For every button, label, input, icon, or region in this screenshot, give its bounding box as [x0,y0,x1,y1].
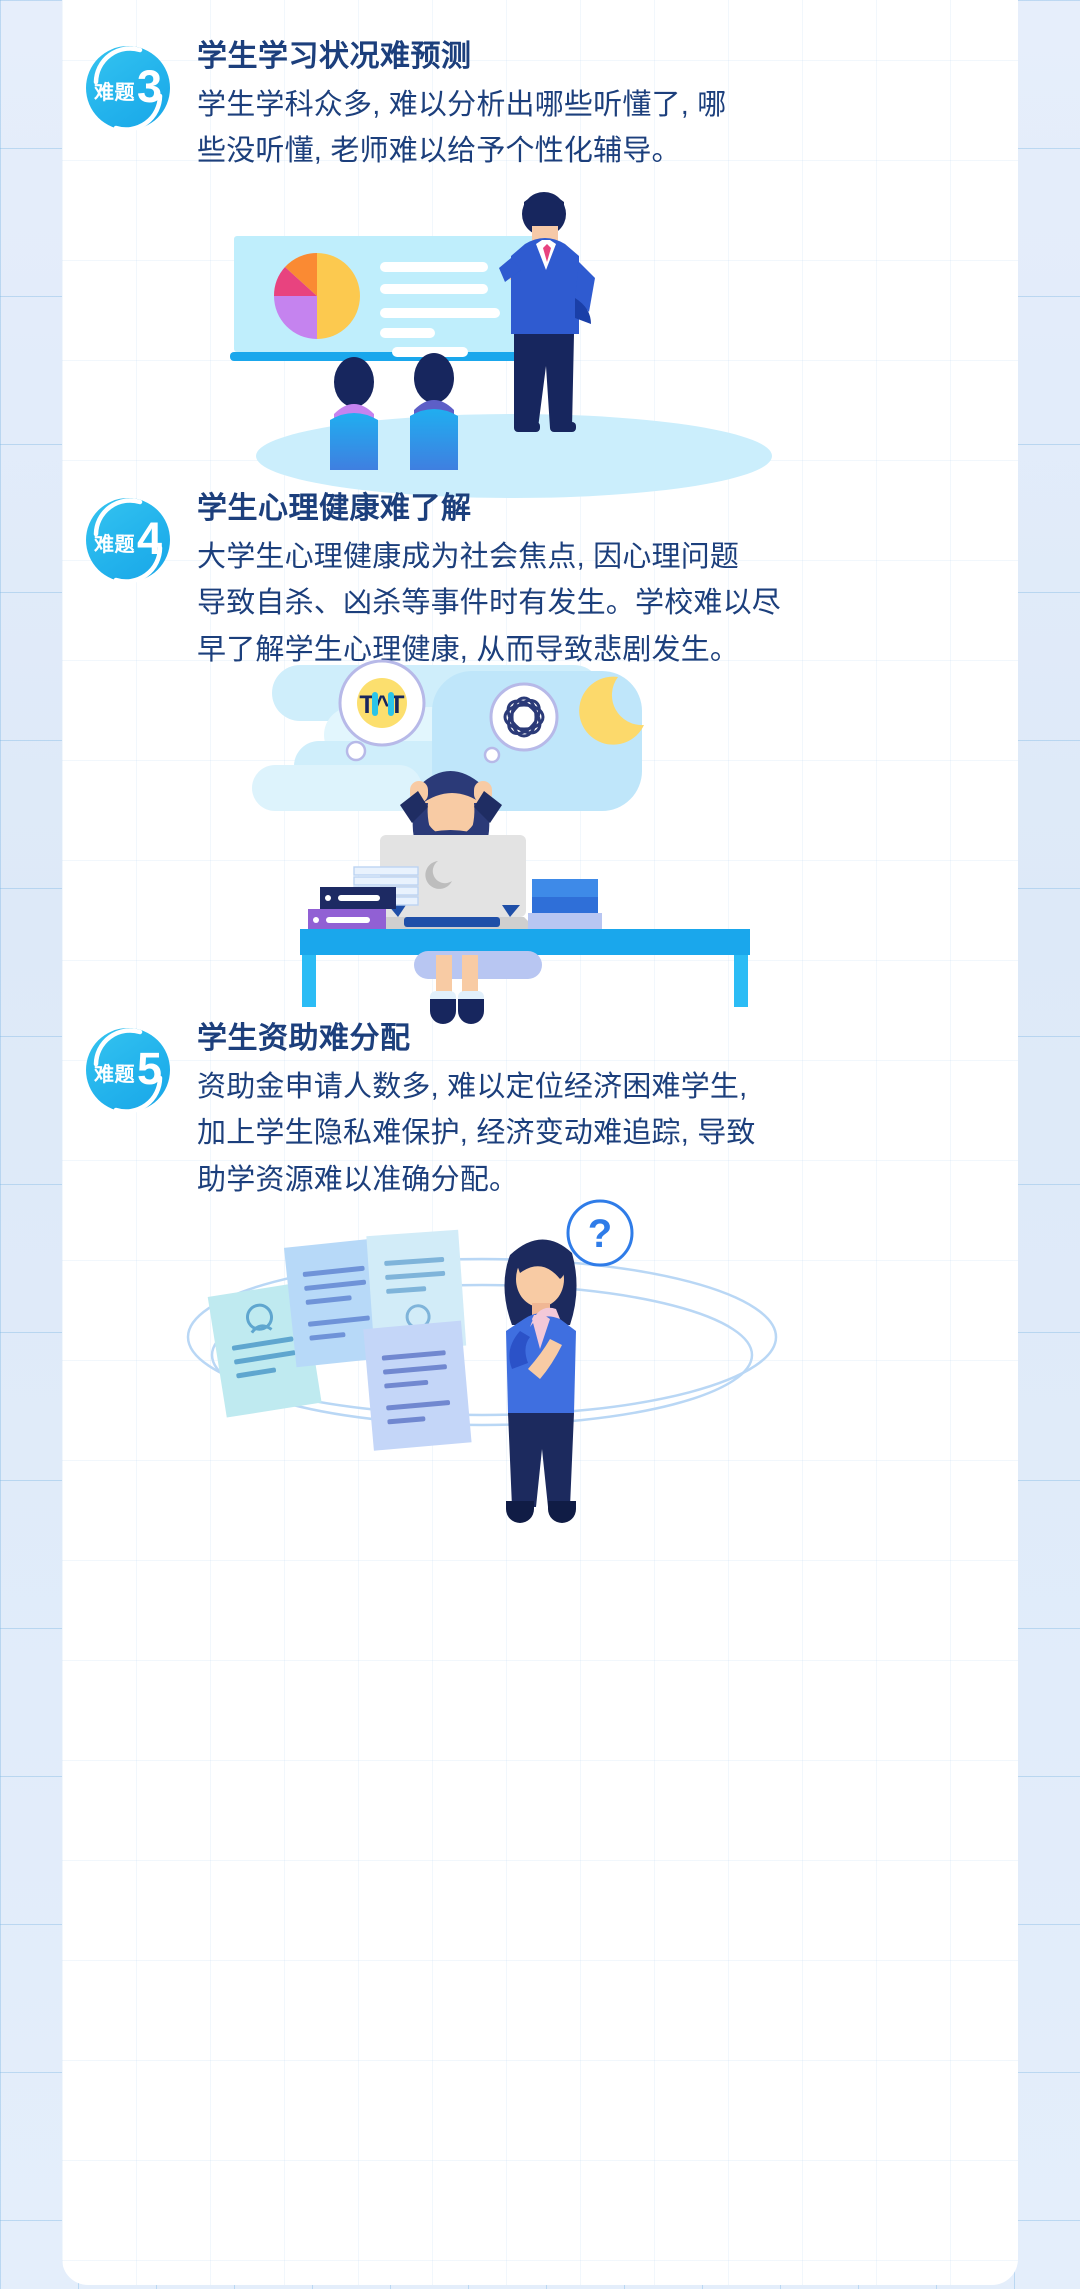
body-line: 大学生心理健康成为社会焦点, 因心理问题 [197,534,988,581]
teacher-chart-svg [62,158,1018,488]
section-problem-4: 难题 4 学生心理健康难了解 大学生心理健康成为社会焦点, 因心理问题 导致自杀… [62,490,1018,674]
book-stack-right [528,879,602,931]
body-line: 加上学生隐私难保护, 经济变动难追踪, 导致 [197,1110,988,1157]
body-line: 学生学科众多, 难以分析出哪些听懂了, 哪 [197,82,988,129]
badge-text: 难题 5 [86,1028,170,1112]
screen-base [230,352,544,361]
standing-woman [504,1239,576,1523]
section-4-body: 大学生心理健康成为社会焦点, 因心理问题 导致自杀、凶杀等事件时有发生。学校难以… [197,534,988,675]
legs [508,1413,574,1507]
section-3-header: 难题 3 学生学习状况难预测 学生学科众多, 难以分析出哪些听懂了, 哪 些没听… [62,38,1018,175]
standing-presenter [499,192,595,432]
badge-label: 难题 [94,83,135,103]
section-5-body: 资助金申请人数多, 难以定位经济困难学生, 加上学生隐私难保护, 经济变动难追踪… [197,1064,988,1205]
section-4-header: 难题 4 学生心理健康难了解 大学生心理健康成为社会焦点, 因心理问题 导致自杀… [62,490,1018,674]
pie-chart [274,253,360,339]
illustration-teacher-presenting-chart [62,158,1018,488]
woman-documents-svg: ? [62,1185,1018,1515]
badge-number: 5 [137,1046,162,1091]
badge-label: 难题 [94,535,135,555]
section-3-title: 学生学习状况难预测 [197,38,988,76]
book-stack-left [308,887,396,931]
body-line: 导致自杀、凶杀等事件时有发生。学校难以尽 [197,580,988,627]
badge-problem-4: 难题 4 [78,490,178,590]
section-3-text: 学生学习状况难预测 学生学科众多, 难以分析出哪些听懂了, 哪 些没听懂, 老师… [197,38,1018,175]
badge-label: 难题 [94,1065,135,1085]
crying-face-text: T^T [359,691,404,719]
seated-student-left [330,357,378,470]
illustration-stressed-student: T^T [62,655,1018,995]
section-5-text: 学生资助难分配 资助金申请人数多, 难以定位经济困难学生, 加上学生隐私难保护,… [197,1020,1018,1204]
seated-student-right [410,353,458,470]
section-5-title: 学生资助难分配 [197,1020,988,1058]
section-5-header: 难题 5 学生资助难分配 资助金申请人数多, 难以定位经济困难学生, 加上学生隐… [62,1020,1018,1204]
badge-problem-3: 难题 3 [78,38,178,138]
document-card-4 [363,1321,471,1451]
section-problem-3: 难题 3 学生学习状况难预测 学生学科众多, 难以分析出哪些听懂了, 哪 些没听… [62,38,1018,175]
badge-problem-5: 难题 5 [78,1020,178,1120]
stressed-student-svg: T^T [62,655,1018,995]
question-mark-text: ? [588,1212,612,1256]
section-problem-5: 难题 5 学生资助难分配 资助金申请人数多, 难以定位经济困难学生, 加上学生隐… [62,1020,1018,1204]
content-card: 难题 3 学生学习状况难预测 学生学科众多, 难以分析出哪些听懂了, 哪 些没听… [62,0,1018,2285]
desk [300,929,750,1007]
illustration-woman-documents: ? [62,1185,1018,1515]
badge-number: 3 [137,64,162,109]
badge-text: 难题 4 [86,498,170,582]
section-4-title: 学生心理健康难了解 [197,490,988,528]
section-4-text: 学生心理健康难了解 大学生心理健康成为社会焦点, 因心理问题 导致自杀、凶杀等事… [197,490,1018,674]
body-line: 资助金申请人数多, 难以定位经济困难学生, [197,1064,988,1111]
badge-text: 难题 3 [86,46,170,130]
badge-number: 4 [137,516,162,561]
